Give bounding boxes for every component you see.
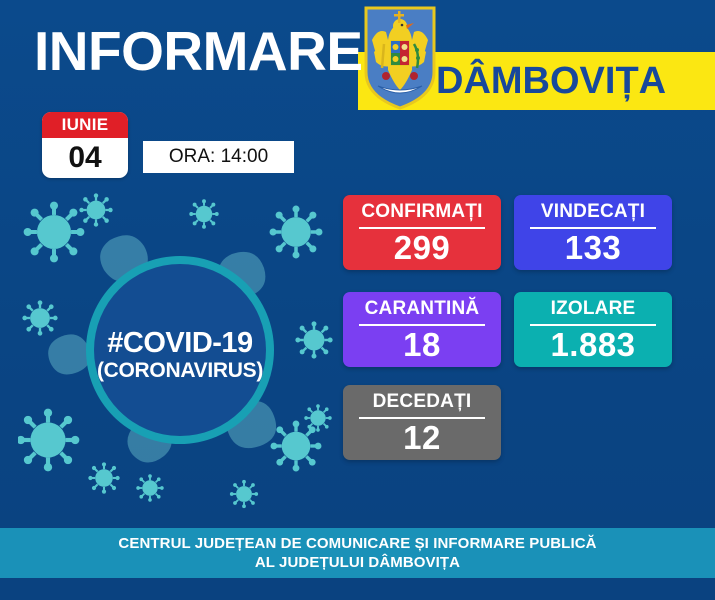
county-name: DÂMBOVIȚA <box>436 62 666 100</box>
stat-card-vindecati: VINDECAȚI 133 <box>514 195 672 270</box>
date-badge: IUNIE 04 <box>42 112 128 178</box>
stat-label-confirmati: CONFIRMAȚI <box>361 202 482 226</box>
stat-value-carantina: 18 <box>343 326 501 365</box>
stat-card-confirmati: CONFIRMAȚI 299 <box>343 195 501 270</box>
stat-value-confirmati: 299 <box>343 229 501 268</box>
date-badge-month: IUNIE <box>42 112 128 138</box>
stat-value-vindecati: 133 <box>514 229 672 268</box>
page-title: INFORMARE <box>34 24 363 79</box>
coronavirus-illustration: #COVID-19 (CORONAVIRUS) <box>18 188 342 512</box>
covid-information-poster: INFORMARE <box>0 0 715 600</box>
stat-label-vindecati: VINDECAȚI <box>541 202 645 226</box>
time-box: ORA: 14:00 <box>143 141 294 173</box>
stat-card-carantina: CARANTINĂ 18 <box>343 292 501 367</box>
stat-card-izolare: IZOLARE 1.883 <box>514 292 672 367</box>
stat-card-decedati: DECEDAȚI 12 <box>343 385 501 460</box>
stat-value-izolare: 1.883 <box>514 326 672 365</box>
stat-label-decedati: DECEDAȚI <box>373 392 472 416</box>
date-badge-day: 04 <box>42 138 128 178</box>
stat-label-carantina: CARANTINĂ <box>365 299 480 323</box>
stat-label-izolare: IZOLARE <box>551 299 636 323</box>
footer-line-2: AL JUDEȚULUI DÂMBOVIȚA <box>255 553 460 573</box>
romanian-coat-of-arms-icon <box>362 6 438 110</box>
footer: CENTRUL JUDEȚEAN DE COMUNICARE ȘI INFORM… <box>0 528 715 578</box>
stat-value-decedati: 12 <box>343 419 501 458</box>
footer-line-1: CENTRUL JUDEȚEAN DE COMUNICARE ȘI INFORM… <box>118 534 596 554</box>
